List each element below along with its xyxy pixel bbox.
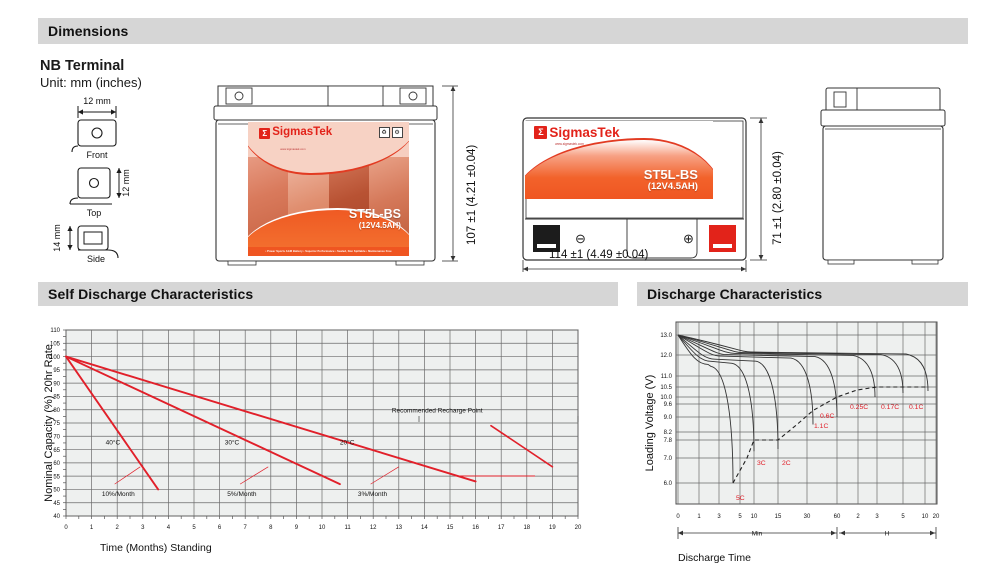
nb-terminal-title: NB Terminal	[40, 58, 124, 74]
x-tick-label: 30	[804, 514, 811, 520]
x-tick-label: 5	[738, 514, 742, 520]
self-discharge-plot: 01234567891011121314151617181920 4045505…	[38, 318, 618, 568]
svg-text:Side: Side	[87, 254, 105, 264]
chart-annotation: 30°C	[225, 438, 240, 446]
section-title-discharge: Discharge Characteristics	[647, 286, 822, 302]
y-tick-label: 7.0	[664, 456, 673, 462]
y-tick-label: 12.0	[660, 353, 672, 359]
x-tick-label: 0	[64, 525, 68, 531]
chart-annotation: 40°C	[106, 438, 121, 446]
recycle-icon: ♻	[379, 127, 390, 138]
self-discharge-ylabel: Nominal Capacity (%) 20hr Rate	[43, 344, 55, 502]
x-tick-label: 3	[717, 514, 721, 520]
battery-side-view	[812, 82, 962, 272]
discharge-plot: 6.07.07.88.29.09.610.010.511.012.013.0 0…	[637, 318, 977, 572]
x-tick-label: 2	[116, 525, 120, 531]
nb-terminal-unit: Unit: mm (inches)	[40, 75, 142, 90]
time-span-axis	[678, 527, 936, 539]
y-tick-label: 11.0	[661, 374, 673, 380]
datasheet-page: Dimensions NB Terminal Unit: mm (inches)…	[0, 0, 1000, 574]
x-tick-label: 10	[319, 525, 326, 531]
label-symbol-icons: ♻ ⚙	[379, 127, 403, 138]
svg-text:12 mm: 12 mm	[121, 169, 131, 197]
brand-name: SigmasTek	[549, 126, 619, 140]
svg-text:⊖: ⊖	[575, 231, 586, 246]
span-label-minutes: Min	[752, 531, 763, 538]
x-tick-label: 5	[192, 525, 196, 531]
x-tick-label: 11	[344, 525, 351, 531]
y-tick-label: 40	[53, 514, 60, 520]
chart-annotation: 10%/Month	[102, 491, 135, 498]
x-tick-label: 7	[244, 525, 248, 531]
x-tick-label: 6	[218, 525, 222, 531]
x-tick-label: 3	[875, 514, 879, 520]
x-tick-label: 8	[269, 525, 273, 531]
self-discharge-chart: 01234567891011121314151617181920 4045505…	[38, 318, 618, 568]
x-tick-label: 12	[370, 525, 377, 531]
sigma-mark-icon: Σ	[534, 126, 547, 139]
x-tick-label: 1	[697, 514, 701, 520]
model-number: ST5L-BS	[349, 208, 401, 221]
y-tick-label: 9.0	[664, 415, 673, 421]
chart-annotation: 5%/Month	[227, 491, 257, 498]
curve-label-3C: 3C	[757, 460, 766, 467]
y-tick-label: 10.0	[660, 395, 672, 401]
chart-annotation: 3%/Month	[358, 491, 388, 498]
model-number: ST5L-BS	[644, 168, 698, 182]
brand-url: www.sigmastek.com	[555, 142, 584, 146]
span-label-hours: H	[885, 531, 890, 538]
x-tick-label: 19	[549, 525, 556, 531]
x-tick-label: 4	[167, 525, 171, 531]
y-tick-label: 110	[50, 328, 60, 334]
svg-text:Top: Top	[87, 208, 102, 218]
dim-height-text: 107 ±1 (4.21 ±0.04)	[466, 145, 478, 245]
y-tick-label: 7.8	[664, 438, 673, 444]
curve-label-0.6C: 0.6C	[820, 413, 834, 420]
section-title-dimensions: Dimensions	[48, 23, 128, 39]
x-tick-label: 3	[141, 525, 145, 531]
no-disposal-icon: ⚙	[392, 127, 403, 138]
model-capacity: (12V4.5AH)	[349, 221, 401, 231]
x-tick-label: 10	[751, 514, 758, 520]
y-tick-label: 6.0	[664, 481, 673, 487]
x-tick-label: 16	[472, 525, 479, 531]
label-model-block: ST5L-BS (12V4.5AH)	[644, 168, 698, 193]
x-tick-label: 18	[523, 525, 530, 531]
x-tick-label: 14	[421, 525, 428, 531]
x-tick-label: 1	[90, 525, 94, 531]
y-tick-label: 13.0	[660, 333, 672, 339]
x-tick-label: 60	[834, 514, 841, 520]
curve-label-2C: 2C	[782, 460, 791, 467]
x-tick-label: 20	[933, 514, 940, 520]
curve-label-0.17C: 0.17C	[881, 404, 899, 411]
x-tick-label: 15	[447, 525, 454, 531]
discharge-chart: 6.07.07.88.29.09.610.010.511.012.013.0 0…	[637, 318, 977, 572]
label-model-block: ST5L-BS (12V4.5AH)	[349, 208, 401, 231]
terminal-drawings: 12 mm Front 12 mm Top 14 mm Side	[34, 90, 194, 270]
curve-label-5C: 5C	[736, 495, 745, 502]
curve-label-0.1C: 0.1C	[909, 404, 923, 411]
curve-label-0.25C: 0.25C	[850, 404, 868, 411]
x-tick-label: 20	[575, 525, 582, 531]
brand-logo: Σ SigmasTek	[259, 127, 332, 139]
y-tick-label: 9.6	[664, 402, 673, 408]
section-title-self-discharge: Self Discharge Characteristics	[48, 286, 253, 302]
curve-label-1.1C: 1.1C	[814, 423, 828, 430]
dim-length-text: 114 ±1 (4.49 ±0.04)	[549, 249, 648, 261]
model-capacity: (12V4.5AH)	[644, 181, 698, 192]
svg-text:⊕: ⊕	[683, 231, 694, 246]
section-header-dimensions: Dimensions	[38, 18, 968, 44]
discharge-ylabel: Loading Voltage (V)	[644, 375, 656, 472]
chart-annotation: Recommended Recharge Point	[392, 407, 483, 414]
brand-url: www.sigmastek.com	[280, 147, 305, 151]
label-tagline: • Power Sports AGM Battery • Superior Pe…	[248, 247, 409, 256]
x-tick-label: 17	[498, 525, 505, 531]
sigma-mark-icon: Σ	[259, 128, 270, 139]
svg-text:Front: Front	[86, 150, 108, 160]
x-tick-label: 13	[395, 525, 402, 531]
chart-annotation: 20°C	[340, 438, 355, 446]
section-header-discharge: Discharge Characteristics	[637, 282, 968, 306]
y-tick-label: 10.5	[660, 385, 672, 391]
battery-label-front: Σ SigmasTek www.sigmastek.com ♻ ⚙ ST5L-B…	[248, 122, 409, 256]
x-tick-label: 5	[901, 514, 905, 520]
brand-name: SigmasTek	[272, 127, 332, 139]
section-header-self-discharge: Self Discharge Characteristics	[38, 282, 618, 306]
brand-logo: Σ SigmasTek	[534, 126, 619, 140]
x-tick-label: 10	[922, 514, 929, 520]
svg-text:12 mm: 12 mm	[83, 96, 111, 106]
x-tick-label: 2	[856, 514, 860, 520]
x-tick-label: 9	[295, 525, 299, 531]
y-tick-label: 8.2	[664, 430, 673, 436]
self-discharge-xlabel: Time (Months) Standing	[100, 542, 212, 554]
battery-label-end: Σ SigmasTek www.sigmastek.com ST5L-BS (1…	[525, 121, 713, 199]
x-tick-label: 15	[775, 514, 782, 520]
svg-text:14 mm: 14 mm	[52, 224, 62, 252]
dim-width-text: 71 ±1 (2.80 ±0.04)	[772, 151, 784, 245]
discharge-xlabel: Discharge Time	[678, 552, 751, 564]
x-tick-label: 0	[676, 514, 680, 520]
